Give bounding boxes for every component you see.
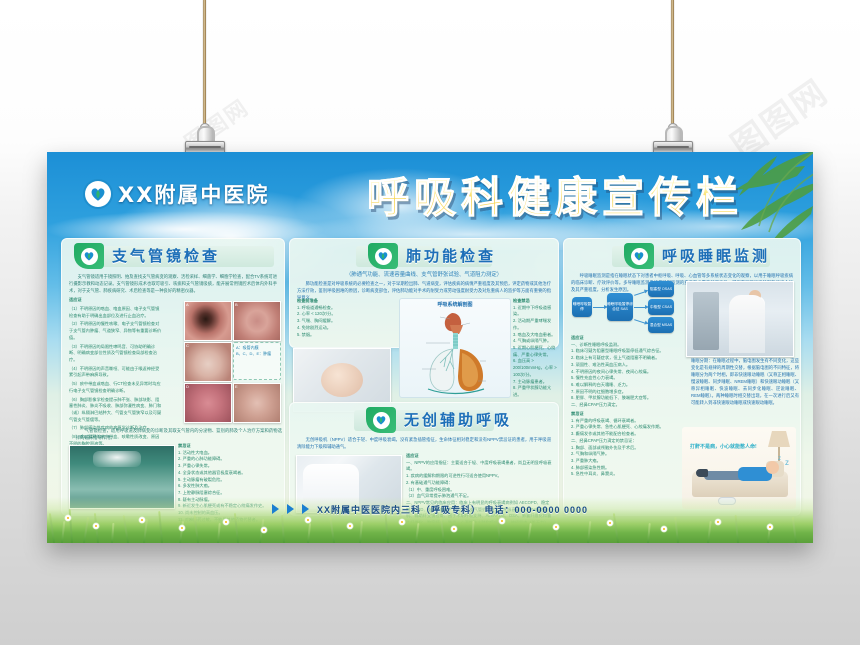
binder-clip-left [185, 128, 223, 154]
hanging-rope-right [671, 0, 674, 128]
list-item: 5. 禁烟。 [297, 332, 393, 339]
list-item: 3. 严重心律失常。 [178, 463, 278, 470]
daisy-flower [179, 525, 185, 531]
panel-bronchoscopy: 支气管镜检查 支气管镜适用于镜照明、拍及查找支气管病变的观察、活检采样、细菌学、… [61, 238, 285, 516]
anatomy-illustration [400, 299, 510, 397]
bronchoscopy-image-4: D [184, 383, 232, 423]
list-item: （4）不明原因的声音嘶哑、可能由于喉返神经受累引起声带麻痹导致。 [69, 366, 163, 379]
list-item: （3）不明原因的局限性哮鸣音、可协助明确诊断、明确病变部位性质及气管镜检查局部检… [69, 344, 163, 364]
list-item: 1. 近期中下呼吸道感染。 [513, 305, 557, 318]
daisy-flower [767, 524, 773, 530]
panel-title-sleep: 呼吸睡眠监测 [662, 246, 770, 267]
lung-function-contra-title: 检查禁忌 [513, 298, 557, 305]
sleep-indications-title: 适应证 [571, 335, 677, 342]
list-item: 3. 癫痫发作或其他不能配合检查者。 [571, 431, 677, 438]
bronchoscopy-note: 气管镜检查，适用呼吸道及肺病变的诊断及其取支气管内的分泌物、篮别的肺及个人治疗方… [76, 427, 282, 441]
bronchoscopy-contraindications-title: 禁忌证 [178, 443, 278, 450]
daisy-flower [499, 518, 505, 524]
triangle-right-icon [302, 504, 309, 514]
list-item: 3. 严重肺大疱。 [571, 458, 677, 465]
svg-text:z: z [785, 458, 789, 467]
list-item: （2）不明原因的慢性咳嗽、电子支气管镜检查对于支气管内肿瘤、气道狭窄、异物等有重… [69, 321, 163, 341]
poster-board: XX附属中医院 呼吸科健康宣传栏 支气管镜检查 支气管镜适用于镜照明、拍及查找支… [47, 152, 813, 543]
list-item: 8. 严重甲状腺功能亢进。 [513, 385, 557, 398]
daisy-flower [93, 523, 99, 529]
daisy-flower [347, 523, 353, 529]
footer-bar: XX附属中医医院内三科（呼吸专科） 电话：000-0000 0000 [47, 501, 813, 517]
daisy-flower [607, 520, 613, 526]
flow-node-root: 睡眠呼吸暂停 [572, 297, 592, 317]
list-item: 6. 血压高 > 200/100mmHg，心率 > 100次/分。 [513, 358, 557, 378]
flow-node-sas: 睡眠呼吸暂停综合征 SAS [607, 293, 633, 321]
hospital-brand: XX附属中医院 [85, 179, 269, 209]
daisy-flower [305, 517, 311, 523]
flow-node-msas: 混合型 MSAS [648, 317, 674, 333]
bronchoscopy-legend: A：吸管内膜 B、C、D、E：肿瘤 [233, 342, 281, 380]
list-item: 5. 近期心肌梗死、心绞痛、严重心律失常。 [513, 345, 557, 358]
legend-line: B、C、D、E：肿瘤 [236, 351, 278, 357]
page-title: 呼吸科健康宣传栏 [367, 164, 743, 225]
panel-header-bronchoscopy: 支气管镜检查 [68, 244, 278, 270]
logo-glyph [89, 185, 107, 203]
panel-title-lung-function: 肺功能检查 [406, 246, 496, 267]
lung-function-subtitle: （肺通气功能、流速容量曲线、支气管舒张试验、气道阻力测定） [298, 270, 550, 278]
list-item: 二、经鼻CPAP压力滴定。 [571, 402, 677, 409]
list-item: 7. 上腔静脉阻塞综合征。 [178, 490, 278, 497]
footer-contact-text: XX附属中医医院内三科（呼吸专科） 电话：000-0000 0000 [317, 503, 588, 516]
svg-text:z: z [778, 456, 781, 462]
list-item: 2. 活动期严重哮喘发作。 [513, 318, 557, 331]
hospital-name: XX附属中医院 [118, 179, 269, 209]
lung-function-prep-title: 检查前准备 [297, 298, 393, 305]
daisy-flower [139, 517, 145, 523]
snore-zzz-icon: z z [778, 453, 796, 469]
list-item: 2. 临床上有可疑症状，但上气道阻塞不明确者。 [571, 355, 677, 362]
daisy-flower [715, 519, 721, 525]
daisy-flower [553, 524, 559, 530]
sleep-contra-title: 禁忌证 [571, 411, 677, 418]
list-item: 5. 急性中耳炎、鼻窦炎。 [571, 471, 677, 478]
bronchoscopy-image-2: B [233, 301, 281, 341]
daisy-flower [661, 526, 667, 532]
list-item: 1. 疾病的缓解和期限的可逆性行可适合使用NPPV。 [406, 473, 552, 480]
panel-header-sleep: 呼吸睡眠监测 [570, 244, 794, 270]
triangle-right-icon [287, 504, 294, 514]
poster-header: XX附属中医院 呼吸科健康宣传栏 [47, 152, 813, 232]
person-shoe [696, 469, 708, 477]
list-item: （6）胸部影像学检查提示肺不张、肺部块影、阻塞性肺炎、肺炎不吸收、肺部弥漫性病变… [69, 397, 163, 424]
list-item: （5）痰中带血或咯血、行CT检查未见异常时均应行电子支气管镜检查明确诊断。 [69, 381, 163, 394]
flow-node-csas: 中枢型 CSAS [648, 299, 674, 315]
list-item: 6. 难以解释的白天嗜睡、乏力。 [571, 382, 677, 389]
list-item: 2. 有基础通气功能障碍： [406, 480, 552, 487]
bronchoscopy-image-5: E [233, 383, 281, 423]
daisy-flower [399, 519, 405, 525]
bronchoscopy-image-1: A [184, 301, 232, 341]
nppv-intro: 无创呼吸机（NPPV）适合于轻、中度呼吸衰竭，没有紧急插管指征，生命体征相对稳定… [297, 436, 551, 450]
hanging-rope-left [203, 0, 206, 128]
panel-badge-icon [366, 407, 396, 433]
list-item: 一、NPPV的应用指征：主要适合于轻、中度呼吸衰竭患者，尚且无明显呼吸衰竭。 [406, 460, 552, 473]
panel-sleep-monitoring: 呼吸睡眠监测 呼吸睡眠监测是指在睡眠状态下对患者中枢呼吸、呼吸、心血管等多系统状… [563, 238, 801, 516]
daisy-flower [261, 527, 267, 533]
anatomy-title: 呼吸系统解剖图 [400, 301, 510, 308]
sleep-apnea-flowchart: 睡眠呼吸暂停 睡眠呼吸暂停综合征 SAS 阻塞型 OSAS 中枢型 CSAS 混… [572, 281, 680, 331]
list-item: 二、经鼻CPAP压力滴定的禁忌证： [571, 438, 677, 445]
lamp-shade-icon [768, 431, 790, 447]
panel-badge-icon [624, 243, 654, 269]
binder-clip-right [653, 128, 691, 154]
panel-header-nppv: 无创辅助呼吸 [296, 408, 552, 434]
list-item: 3. 顽固性、难治性高血压病人。 [571, 362, 677, 369]
list-item: 3. 气喘、胸闷缓解。 [297, 318, 393, 325]
sleep-explain: 睡眠分期：在睡眠过程中，脑电图发生有不同变化，这些变化是有规律的周期性交替，根据… [691, 357, 799, 407]
list-item: 2. 气胸和纵隔气肿。 [571, 451, 677, 458]
panel-badge-icon [74, 243, 104, 269]
heart-leaf-logo-icon [85, 181, 111, 207]
list-item: 4. 全身状态或其他器官极度衰竭者。 [178, 470, 278, 477]
panel-title-nppv: 无创辅助呼吸 [404, 410, 512, 431]
panel-header-lung-function: 肺功能检查 [296, 244, 552, 270]
sleep-lab-photo [686, 281, 794, 357]
snoring-caption: 打鼾不是病，小心就能憋人命! [690, 443, 757, 450]
list-item: 4. 免除剧烈运动。 [297, 325, 393, 332]
flow-node-osas: 阻塞型 OSAS [648, 281, 674, 297]
bronchoscopy-image-3: C [184, 342, 232, 382]
daisy-flower [451, 526, 457, 532]
list-item: （1）不明原因的咯血、咯血原因、电子支气管镜检查有助于明确出血部位及进行止血治疗… [69, 306, 163, 319]
bronchoscopy-intro: 支气管镜适用于镜照明、拍及查找支气管病变的观察、活检采样、细菌学、细胞学检查，配… [69, 273, 277, 294]
respiratory-anatomy-figure: 呼吸系统解剖图 [399, 298, 511, 398]
triangle-right-icon [272, 504, 279, 514]
panel-title-bronchoscopy: 支气管镜检查 [112, 246, 220, 267]
daisy-flower [223, 519, 229, 525]
nppv-indications-title: 适应证 [406, 453, 552, 460]
panel-badge-icon [368, 243, 398, 269]
